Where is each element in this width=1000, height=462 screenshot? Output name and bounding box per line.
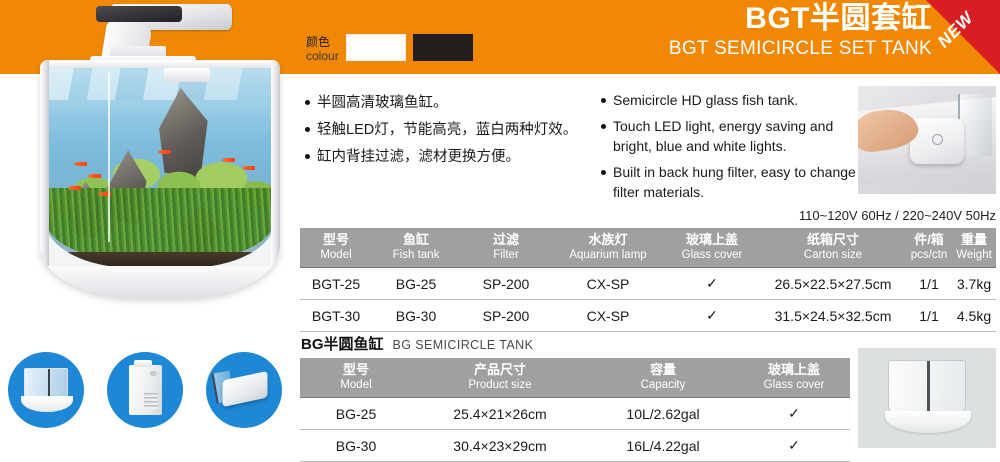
feature-item-cn: 半圆高清玻璃鱼缸。	[304, 92, 594, 114]
feature-list-cn: 半圆高清玻璃鱼缸。 轻触LED灯，节能高亮，蓝白两种灯效。 缸内背挂过滤，滤材更…	[304, 92, 594, 173]
cell-aquarium-lamp: CX-SP	[552, 300, 664, 332]
aquarium-tank-body	[40, 60, 280, 298]
cell-carton-size: 26.5×22.5×27.5cm	[760, 268, 906, 300]
cell-model: BGT-30	[300, 300, 372, 332]
water-surface-ripple	[46, 66, 274, 100]
col-header-cn: 容量	[590, 362, 736, 378]
colour-label-cn: 颜色	[306, 35, 339, 49]
col-header-model: 型号 Model	[300, 358, 412, 398]
cell-product-size: 25.4×21×26cm	[412, 398, 588, 430]
cell-filter: SP-200	[460, 268, 552, 300]
colour-label-en: colour	[306, 49, 339, 63]
col-header-glass-cover: 玻璃上盖 Glass cover	[664, 228, 760, 268]
col-header-en: pcs/ctn	[908, 248, 950, 262]
led-touch-pad-icon	[910, 118, 964, 164]
col-header-cn: 型号	[302, 232, 370, 248]
page-title-en: BGT SEMICIRCLE SET TANK	[669, 37, 932, 61]
cell-pcs-ctn: 1/1	[906, 300, 952, 332]
cell-capacity: 16L/4.22gal	[588, 430, 738, 462]
section-title-cn: BG半圆鱼缸	[301, 333, 384, 354]
col-header-en: Model	[302, 378, 410, 392]
col-header-fish-tank: 鱼缸 Fish tank	[372, 228, 460, 268]
tank-base	[885, 411, 971, 433]
back-hung-filter-icon	[164, 68, 210, 82]
colour-swatch-black[interactable]	[413, 34, 473, 61]
page-title-cn: BGT半圆套缸	[669, 2, 932, 36]
fish-icon	[88, 174, 101, 178]
feature-list-en: Semicircle HD glass fish tank. Touch LED…	[600, 90, 858, 208]
cell-filter: SP-200	[460, 300, 552, 332]
cell-product-size: 30.4×23×29cm	[412, 430, 588, 462]
cell-glass-cover-check-icon: ✓	[738, 398, 850, 430]
table-row: BGT-25 BG-25 SP-200 CX-SP ✓ 26.5×22.5×27…	[300, 268, 996, 300]
col-header-cn: 过滤	[462, 232, 550, 248]
feature-item-cn: 轻触LED灯，节能高亮，蓝白两种灯效。	[304, 119, 594, 141]
brand-title-block: BGT半圆套缸 BGT SEMICIRCLE SET TANK	[669, 2, 932, 61]
col-header-en: Weight	[954, 248, 994, 262]
col-header-en: Fish tank	[374, 248, 458, 262]
col-header-en: Glass cover	[740, 378, 848, 392]
fish-icon	[222, 158, 235, 162]
thumbnail-empty-tank[interactable]	[8, 352, 84, 428]
cell-capacity: 10L/2.62gal	[588, 398, 738, 430]
col-header-en: Aquarium lamp	[554, 248, 662, 262]
cell-glass-cover-check-icon: ✓	[664, 268, 760, 300]
col-header-en: Model	[302, 248, 370, 262]
table-row: BG-25 25.4×21×26cm 10L/2.62gal ✓	[300, 398, 850, 430]
col-header-product-size: 产品尺寸 Product size	[412, 358, 588, 398]
filter-unit-icon	[129, 365, 162, 415]
cell-model: BG-30	[300, 430, 412, 462]
table-header-row: 型号 Model 产品尺寸 Product size 容量 Capacity 玻…	[300, 358, 850, 398]
col-header-glass-cover: 玻璃上盖 Glass cover	[738, 358, 850, 398]
col-header-cn: 玻璃上盖	[740, 362, 848, 378]
cell-fish-tank: BG-25	[372, 268, 460, 300]
table-row: BGT-30 BG-30 SP-200 CX-SP ✓ 31.5×24.5×32…	[300, 300, 996, 332]
col-header-carton-size: 纸箱尺寸 Carton size	[760, 228, 906, 268]
section-heading-bg: BG半圆鱼缸 BG SEMICIRCLE TANK	[301, 333, 533, 354]
fish-icon	[158, 150, 171, 154]
col-header-en: Capacity	[590, 378, 736, 392]
colour-swatch-white[interactable]	[346, 34, 406, 61]
led-lamp-head-dark-icon	[96, 6, 182, 22]
fish-icon	[74, 162, 87, 166]
section-title-en: BG SEMICIRCLE TANK	[393, 338, 534, 352]
cell-model: BG-25	[300, 398, 412, 430]
cell-weight: 3.7kg	[952, 268, 996, 300]
filter-vents	[144, 393, 158, 409]
fish-icon	[68, 186, 81, 190]
feature-item-en: Semicircle HD glass fish tank.	[600, 90, 858, 110]
fish-icon	[242, 166, 255, 170]
spec-table-bg: 型号 Model 产品尺寸 Product size 容量 Capacity 玻…	[300, 358, 850, 462]
thumbnail-filter[interactable]	[107, 352, 183, 428]
aquascape-grass	[46, 188, 274, 260]
hero-product-image	[18, 0, 290, 340]
col-header-cn: 件/箱	[908, 232, 950, 248]
thumbnail-led-lamp[interactable]	[206, 352, 282, 428]
tank-mullion	[927, 361, 930, 412]
tank-base-rim	[40, 266, 280, 298]
col-header-capacity: 容量 Capacity	[588, 358, 738, 398]
cell-weight: 4.5kg	[952, 300, 996, 332]
col-header-cn: 纸箱尺寸	[762, 232, 904, 248]
tank-mullion	[48, 369, 50, 397]
col-header-cn: 玻璃上盖	[666, 232, 758, 248]
col-header-weight: 重量 Weight	[952, 228, 996, 268]
col-header-en: Product size	[414, 378, 586, 392]
cell-carton-size: 31.5×24.5×32.5cm	[760, 300, 906, 332]
feature-item-en: Built in back hung filter, easy to chang…	[600, 162, 858, 202]
col-header-en: Glass cover	[666, 248, 758, 262]
col-header-model: 型号 Model	[300, 228, 372, 268]
col-header-aquarium-lamp: 水族灯 Aquarium lamp	[552, 228, 664, 268]
col-header-cn: 型号	[302, 362, 410, 378]
col-header-cn: 产品尺寸	[414, 362, 586, 378]
tank-frame-left	[40, 60, 49, 298]
col-header-cn: 重量	[954, 232, 994, 248]
cell-glass-cover-check-icon: ✓	[664, 300, 760, 332]
cell-model: BGT-25	[300, 268, 372, 300]
cell-fish-tank: BG-30	[372, 300, 460, 332]
table-header-row: 型号 Model 鱼缸 Fish tank 过滤 Filter 水族灯 Aqua…	[300, 228, 996, 268]
bare-semicircle-tank-icon	[888, 360, 966, 426]
feature-item-cn: 缸内背挂过滤，滤材更换方便。	[304, 146, 594, 168]
spec-table-main: 型号 Model 鱼缸 Fish tank 过滤 Filter 水族灯 Aqua…	[300, 228, 996, 332]
touch-control-detail-image	[858, 86, 996, 194]
feature-item-en: Touch LED light, energy saving and brigh…	[600, 116, 858, 156]
voltage-note: 110~120V 60Hz / 220~240V 50Hz	[300, 208, 996, 223]
cell-glass-cover-check-icon: ✓	[738, 430, 850, 462]
col-header-filter: 过滤 Filter	[460, 228, 552, 268]
cell-aquarium-lamp: CX-SP	[552, 268, 664, 300]
filter-knob	[150, 371, 157, 376]
colour-labels: 颜色 colour	[306, 34, 339, 63]
col-header-cn: 鱼缸	[374, 232, 458, 248]
tank-top-rim	[40, 60, 280, 68]
filter-cap	[134, 360, 152, 367]
table-row: BG-30 30.4×23×29cm 16L/4.22gal ✓	[300, 430, 850, 462]
cell-pcs-ctn: 1/1	[906, 268, 952, 300]
aquarium-water	[46, 66, 274, 268]
col-header-cn: 水族灯	[554, 232, 662, 248]
bare-tank-image	[858, 348, 996, 448]
new-badge: NEW	[926, 0, 1000, 74]
col-header-en: Filter	[462, 248, 550, 262]
colour-swatch-group: 颜色 colour	[306, 34, 473, 63]
tank-base	[21, 396, 73, 412]
tank-frame-right	[271, 60, 280, 298]
col-header-pcs-ctn: 件/箱 pcs/ctn	[906, 228, 952, 268]
tank-inner-glass-edge	[108, 72, 110, 242]
empty-tank-icon	[24, 368, 68, 406]
col-header-en: Carton size	[762, 248, 904, 262]
